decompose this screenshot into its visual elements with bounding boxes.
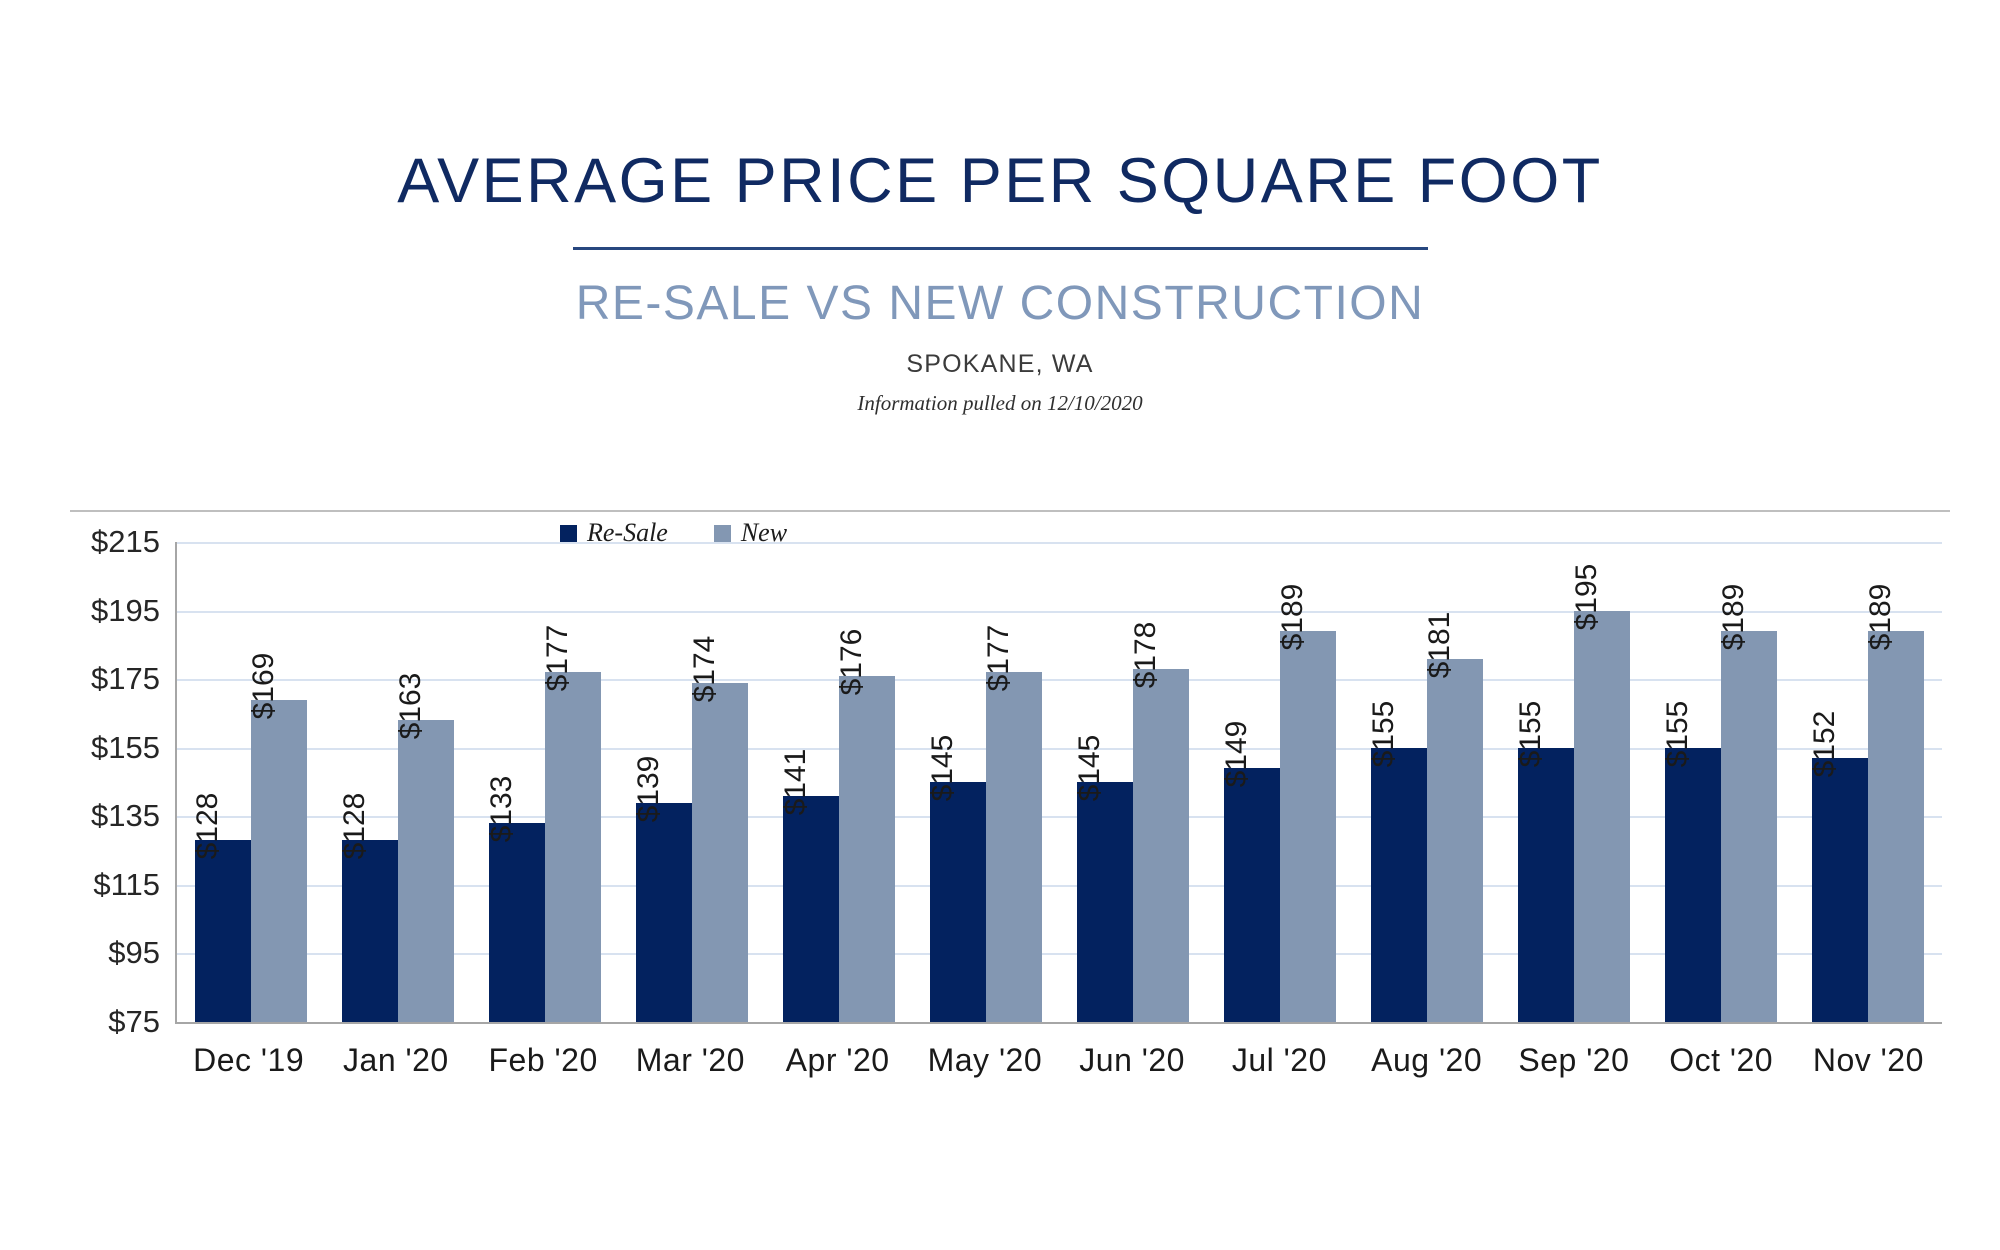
bar-group: $145$177	[912, 542, 1059, 1022]
x-axis-tick: Jun '20	[1059, 1042, 1206, 1079]
bar-value-label: $155	[1663, 700, 1693, 767]
chart-header: AVERAGE PRICE PER SQUARE FOOT RE-SALE VS…	[0, 0, 2000, 414]
bar-resale[interactable]: $141	[783, 796, 839, 1022]
bar-value-label: $145	[1075, 735, 1105, 802]
bar-resale[interactable]: $139	[636, 803, 692, 1022]
x-axis-tick: Dec '19	[175, 1042, 322, 1079]
x-axis: Dec '19Jan '20Feb '20Mar '20Apr '20May '…	[175, 1042, 1942, 1079]
x-axis-tick: Aug '20	[1353, 1042, 1500, 1079]
bar-new[interactable]: $169	[251, 700, 307, 1022]
bar-new[interactable]: $174	[692, 683, 748, 1022]
bar-value-label: $189	[1278, 584, 1308, 651]
x-axis-tick: Mar '20	[617, 1042, 764, 1079]
bar-new[interactable]: $189	[1868, 631, 1924, 1022]
y-axis-tick: $175	[91, 661, 160, 697]
legend-label-new: New	[741, 520, 787, 546]
bar-new[interactable]: $189	[1280, 631, 1336, 1022]
bar-value-label: $141	[781, 748, 811, 815]
legend-swatch-new	[714, 525, 731, 542]
bar-value-label: $155	[1369, 700, 1399, 767]
x-axis-tick: Jul '20	[1206, 1042, 1353, 1079]
x-axis-tick: Apr '20	[764, 1042, 911, 1079]
data-pulled-note: Information pulled on 12/10/2020	[0, 393, 2000, 414]
bar-new[interactable]: $195	[1574, 611, 1630, 1022]
x-axis-tick: May '20	[911, 1042, 1058, 1079]
x-axis-tick: Feb '20	[470, 1042, 617, 1079]
bar-value-label: $189	[1866, 584, 1896, 651]
bar-value-label: $155	[1516, 700, 1546, 767]
bar-new[interactable]: $189	[1721, 631, 1777, 1022]
legend-label-resale: Re-Sale	[587, 520, 668, 546]
bar-new[interactable]: $176	[839, 676, 895, 1022]
bar-group: $128$163	[324, 542, 471, 1022]
bar-group: $145$178	[1059, 542, 1206, 1022]
bar-group: $141$176	[765, 542, 912, 1022]
bar-value-label: $169	[249, 652, 279, 719]
bar-resale[interactable]: $149	[1224, 768, 1280, 1022]
bar-value-label: $176	[837, 628, 867, 695]
page-title: AVERAGE PRICE PER SQUARE FOOT	[0, 150, 2000, 213]
bar-resale[interactable]: $128	[195, 840, 251, 1022]
bar-new[interactable]: $163	[398, 720, 454, 1022]
bar-value-label: $128	[340, 793, 370, 860]
plot-area: $128$169$128$163$133$177$139$174$141$176…	[175, 542, 1942, 1024]
y-axis-tick: $155	[91, 730, 160, 766]
bar-resale[interactable]: $155	[1518, 748, 1574, 1022]
x-axis-tick: Oct '20	[1648, 1042, 1795, 1079]
chart-container: Re-SaleNew $215$195$175$155$135$115$95$7…	[70, 510, 1950, 1040]
bar-resale[interactable]: $133	[489, 823, 545, 1022]
title-divider	[573, 247, 1428, 250]
bar-resale[interactable]: $152	[1812, 758, 1868, 1022]
y-axis-tick: $115	[93, 867, 160, 903]
bar-value-label: $195	[1572, 563, 1602, 630]
bar-resale[interactable]: $145	[1077, 782, 1133, 1022]
legend-swatch-resale	[560, 525, 577, 542]
bar-new[interactable]: $178	[1133, 669, 1189, 1022]
legend-item-new[interactable]: New	[714, 520, 787, 546]
y-axis-tick: $95	[108, 935, 160, 971]
bar-value-label: $177	[543, 625, 573, 692]
bar-value-label: $181	[1425, 611, 1455, 678]
bar-value-label: $149	[1222, 721, 1252, 788]
bar-value-label: $163	[396, 673, 426, 740]
y-axis: $215$195$175$155$135$115$95$75	[70, 542, 160, 1022]
bar-groups: $128$169$128$163$133$177$139$174$141$176…	[177, 542, 1942, 1022]
bar-new[interactable]: $177	[545, 672, 601, 1022]
bar-group: $128$169	[177, 542, 324, 1022]
bar-new[interactable]: $181	[1427, 659, 1483, 1022]
bar-group: $149$189	[1207, 542, 1354, 1022]
bar-value-label: $178	[1131, 621, 1161, 688]
bar-new[interactable]: $177	[986, 672, 1042, 1022]
legend-item-resale[interactable]: Re-Sale	[560, 520, 668, 546]
bar-group: $133$177	[471, 542, 618, 1022]
x-axis-tick: Nov '20	[1795, 1042, 1942, 1079]
y-axis-tick: $215	[91, 524, 160, 560]
y-axis-tick: $195	[91, 593, 160, 629]
y-axis-tick: $135	[91, 798, 160, 834]
bar-group: $152$189	[1795, 542, 1942, 1022]
bar-group: $155$189	[1648, 542, 1795, 1022]
x-axis-tick: Sep '20	[1500, 1042, 1647, 1079]
bar-group: $155$195	[1501, 542, 1648, 1022]
bar-group: $139$174	[618, 542, 765, 1022]
bar-value-label: $145	[928, 735, 958, 802]
x-axis-tick: Jan '20	[322, 1042, 469, 1079]
bar-value-label: $152	[1810, 711, 1840, 778]
chart-legend: Re-SaleNew	[560, 520, 787, 546]
page-subtitle: RE-SALE VS NEW CONSTRUCTION	[0, 280, 2000, 328]
bar-value-label: $139	[634, 755, 664, 822]
bar-value-label: $128	[193, 793, 223, 860]
bar-value-label: $133	[487, 776, 517, 843]
bar-value-label: $189	[1719, 584, 1749, 651]
location-label: SPOKANE, WA	[0, 352, 2000, 377]
y-axis-tick: $75	[108, 1004, 160, 1040]
bar-value-label: $174	[690, 635, 720, 702]
bar-resale[interactable]: $155	[1371, 748, 1427, 1022]
bar-group: $155$181	[1354, 542, 1501, 1022]
bar-resale[interactable]: $155	[1665, 748, 1721, 1022]
bar-resale[interactable]: $128	[342, 840, 398, 1022]
bar-resale[interactable]: $145	[930, 782, 986, 1022]
bar-value-label: $177	[984, 625, 1014, 692]
